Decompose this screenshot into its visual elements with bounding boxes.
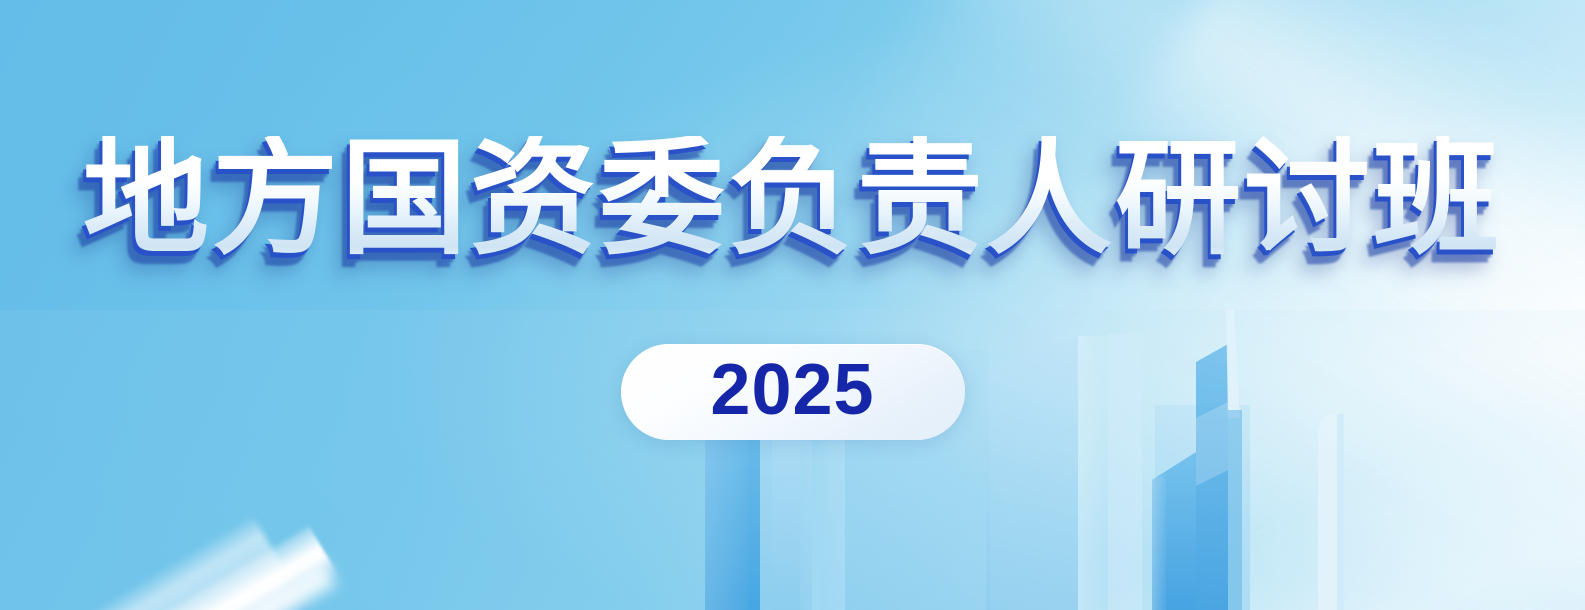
light-streak-top-right-icon [790,0,1585,610]
banner-title-row: 地方国资委负责人研讨班 [0,136,1585,262]
year-badge: 2025 [621,344,965,440]
year-badge-row: 2025 [0,344,1585,440]
banner-title: 地方国资委负责人研讨班 [83,136,1502,262]
event-banner: 地方国资委负责人研讨班 2025 [0,0,1585,610]
year-badge-label: 2025 [710,354,874,426]
